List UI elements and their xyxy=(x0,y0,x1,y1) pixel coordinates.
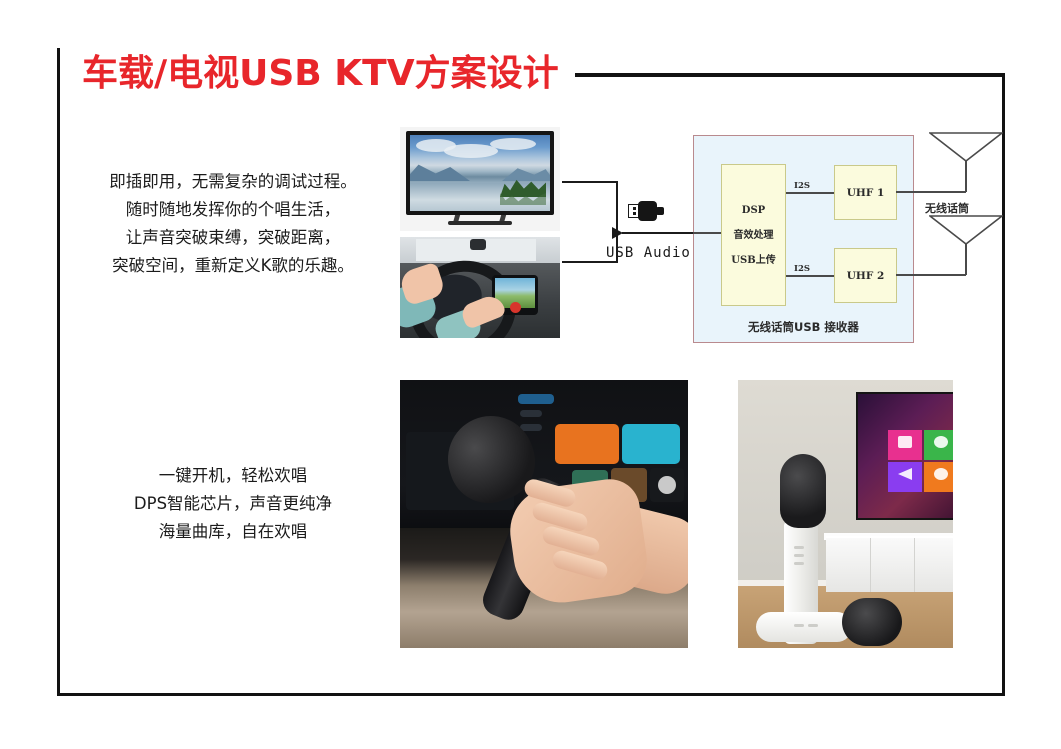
wireless-mic-label: 无线话筒 xyxy=(925,200,969,216)
microphone-foam-head xyxy=(780,454,826,528)
copy-line: 随时随地发挥你的个唱生活， xyxy=(78,196,388,224)
usb-cable-tail xyxy=(656,207,664,215)
tv-app-icon xyxy=(898,436,912,448)
cabinet-seam xyxy=(914,538,915,592)
wire-dsp-to-uhf1 xyxy=(786,192,834,194)
tv-app-icon xyxy=(934,436,948,448)
car-interior-photo xyxy=(400,237,560,338)
uhf2-label: UHF 2 xyxy=(847,270,885,282)
tv-photo xyxy=(400,127,560,231)
wire-usb-audio-line xyxy=(622,232,694,234)
cabinet-seam xyxy=(870,538,871,592)
tv-app-icon xyxy=(934,468,948,480)
usb-audio-label: USB Audio xyxy=(606,245,691,261)
feature-copy-top: 即插即用，无需复杂的调试过程。 随时随地发挥你的个唱生活， 让声音突破束缚，突破… xyxy=(78,168,388,280)
dsp-block: DSP 音效处理 USB上传 xyxy=(721,164,786,306)
frame-left-border xyxy=(57,48,60,696)
page-title: 车载/电视USB KTV方案设计 xyxy=(82,44,559,96)
uhf2-block: UHF 2 xyxy=(834,248,897,303)
microphone-foam-head-second xyxy=(842,598,902,646)
i2s-label-top: I2S xyxy=(793,181,811,191)
antenna-icon-top xyxy=(929,132,1003,162)
screen-tile xyxy=(555,424,619,464)
tv-stand-bar xyxy=(448,221,512,225)
wire-uhf2-to-antenna xyxy=(896,274,966,276)
wire-tv-horizontal xyxy=(562,181,618,183)
dsp-line-1: DSP xyxy=(742,205,765,216)
usb-pin xyxy=(633,212,636,215)
copy-line: DPS智能芯片，声音更纯净 xyxy=(78,490,388,518)
screen-record-button xyxy=(510,302,521,313)
dsp-line-2: 音效处理 xyxy=(734,226,774,241)
mic-in-car-photo xyxy=(400,380,688,648)
copy-line: 一键开机，轻松欢唱 xyxy=(78,462,388,490)
arrow-head-left-icon xyxy=(612,227,623,239)
tv-cabinet xyxy=(826,536,953,592)
cloud-shape xyxy=(490,138,536,150)
wire-car-horizontal xyxy=(562,261,618,263)
rear-view-mirror xyxy=(470,239,486,250)
copy-line: 即插即用，无需复杂的调试过程。 xyxy=(78,168,388,196)
wall-mounted-tv xyxy=(856,392,953,520)
frame-bottom-border xyxy=(57,693,1005,696)
wire-dsp-to-usb xyxy=(693,232,721,234)
mic-button xyxy=(794,562,804,565)
screen-tile xyxy=(518,394,554,404)
wire-uhf1-to-antenna xyxy=(896,191,966,193)
mic-button xyxy=(794,624,804,627)
mountain-shape xyxy=(410,161,470,181)
mic-button xyxy=(808,624,818,627)
antenna2-mast xyxy=(965,243,967,275)
usb-pin xyxy=(633,207,636,210)
uhf1-block: UHF 1 xyxy=(834,165,897,220)
receiver-block-diagram: DSP 音效处理 USB上传 UHF 1 UHF 2 I2S I2S 无线话筒U… xyxy=(693,135,914,343)
frame-top-rule xyxy=(575,73,1005,77)
antenna1-mast xyxy=(965,160,967,192)
copy-line: 海量曲库，自在欢唱 xyxy=(78,518,388,546)
i2s-label-bottom: I2S xyxy=(793,264,811,274)
dsp-line-3: USB上传 xyxy=(731,251,775,266)
mic-button xyxy=(794,546,804,549)
slide-canvas: 车载/电视USB KTV方案设计 即插即用，无需复杂的调试过程。 随时随地发挥你… xyxy=(0,0,1061,749)
screen-tile-art xyxy=(658,476,676,494)
uhf1-label: UHF 1 xyxy=(847,187,885,199)
wire-dsp-to-uhf2 xyxy=(786,275,834,277)
tv-screen xyxy=(410,135,550,211)
diagram-caption: 无线话筒USB 接收器 xyxy=(694,319,913,335)
mic-button xyxy=(794,554,804,557)
cloud-shape xyxy=(444,144,498,158)
usb-body xyxy=(638,201,657,221)
mountain-shape xyxy=(502,165,550,181)
microphone-handle-second xyxy=(756,612,852,642)
mic-living-room-photo xyxy=(738,380,953,648)
screen-tile xyxy=(520,410,542,417)
screen-tile xyxy=(622,424,680,464)
copy-line: 让声音突破束缚，突破距离， xyxy=(78,224,388,252)
usb-connector-icon xyxy=(628,201,660,221)
antenna-icon-bottom xyxy=(929,215,1003,245)
frame-right-border xyxy=(1002,75,1005,696)
feature-copy-bottom: 一键开机，轻松欢唱 DPS智能芯片，声音更纯净 海量曲库，自在欢唱 xyxy=(78,462,388,546)
copy-line: 突破空间，重新定义K歌的乐趣。 xyxy=(78,252,388,280)
tv-stand xyxy=(448,215,512,225)
